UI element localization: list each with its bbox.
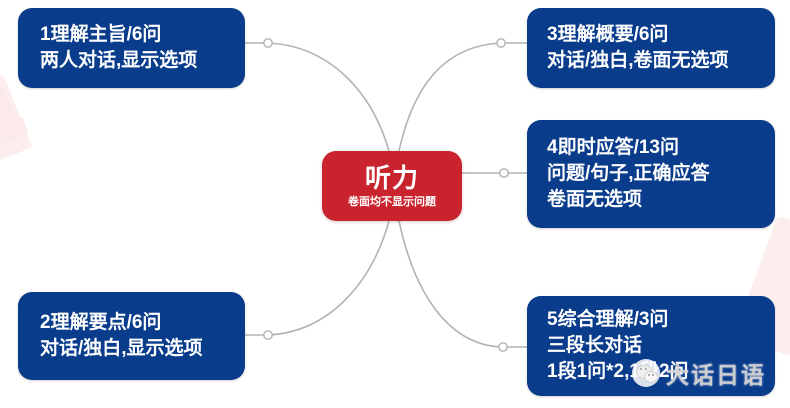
branch-1-line-1: 1理解主旨/6问: [18, 22, 245, 48]
branch-2-line-1: 2理解要点/6问: [18, 310, 245, 336]
branch-node-3[interactable]: 3理解概要/6问 对话/独白,卷面无选项: [527, 8, 775, 88]
connector-dot-branch-4: [500, 169, 508, 177]
branch-4-line-3: 卷面无选项: [527, 187, 775, 213]
branch-5-line-3: 1段1问*2,1段2问: [527, 359, 775, 385]
mindmap-canvas: 1理解主旨/6问 两人对话,显示选项 2理解要点/6问 对话/独白,显示选项 3…: [0, 0, 790, 408]
connector-dot-branch-5: [499, 343, 507, 351]
connector-dot-branch-3: [497, 39, 505, 47]
branch-3-line-1: 3理解概要/6问: [527, 22, 775, 48]
branch-node-4[interactable]: 4即时应答/13问 问题/句子,正确应答 卷面无选项: [527, 120, 775, 228]
branch-node-5[interactable]: 5综合理解/3问 三段长对话 1段1问*2,1段2问: [527, 296, 775, 396]
branch-5-line-2: 三段长对话: [527, 333, 775, 359]
connector-curve-branch-2: [268, 221, 389, 335]
center-node[interactable]: 听力 卷面均不显示问题: [322, 151, 462, 221]
branch-1-line-2: 两人对话,显示选项: [18, 48, 245, 74]
branch-4-line-2: 问题/句子,正确应答: [527, 161, 775, 187]
branch-3-line-2: 对话/独白,卷面无选项: [527, 48, 775, 74]
connector-dot-branch-1: [264, 39, 272, 47]
connector-curve-branch-5: [399, 221, 501, 347]
branch-4-line-1: 4即时应答/13问: [527, 135, 775, 161]
center-node-subtitle: 卷面均不显示问题: [348, 195, 436, 209]
center-node-title: 听力: [365, 163, 419, 193]
connector-curve-branch-1: [268, 43, 389, 151]
branch-2-line-2: 对话/独白,显示选项: [18, 336, 245, 362]
branch-node-2[interactable]: 2理解要点/6问 对话/独白,显示选项: [18, 292, 245, 380]
branch-node-1[interactable]: 1理解主旨/6问 两人对话,显示选项: [18, 8, 245, 88]
connector-dot-branch-2: [264, 331, 272, 339]
branch-5-line-1: 5综合理解/3问: [527, 307, 775, 333]
connector-curve-branch-3: [399, 43, 501, 151]
